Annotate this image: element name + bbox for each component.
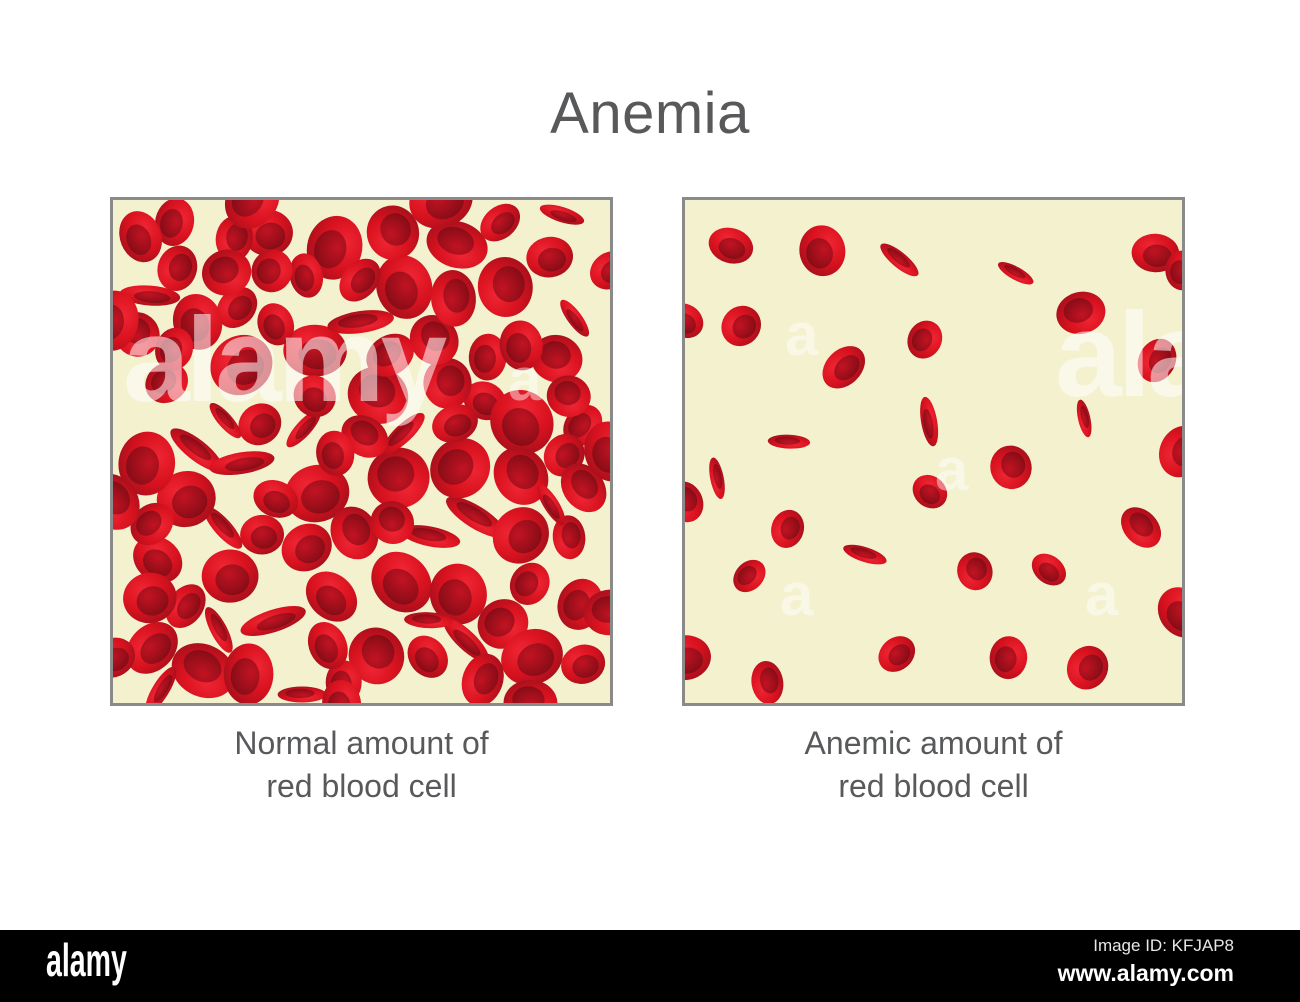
- red-blood-cell: [706, 456, 727, 500]
- red-blood-cell: [286, 367, 344, 425]
- red-blood-cell: [239, 514, 285, 556]
- red-blood-cell: [557, 639, 610, 689]
- anemic-blood-cells-illustration: [685, 200, 1182, 703]
- red-blood-cell: [201, 549, 259, 603]
- red-blood-cell: [1052, 287, 1110, 340]
- caption-anemic: Anemic amount of red blood cell: [682, 722, 1185, 808]
- red-blood-cell: [685, 296, 710, 345]
- red-blood-cell: [296, 561, 367, 632]
- red-blood-cell: [917, 395, 941, 447]
- red-blood-cell: [503, 679, 558, 703]
- red-blood-cell: [273, 514, 341, 580]
- alamy-footer-bar: alamy Image ID: KFJAP8 www.alamy.com: [0, 930, 1300, 1002]
- red-blood-cell: [230, 395, 289, 453]
- red-blood-cell: [685, 475, 710, 529]
- caption-anemic-line2: red blood cell: [682, 765, 1185, 808]
- red-blood-cell: [583, 244, 610, 298]
- red-blood-cell: [399, 627, 456, 686]
- caption-normal-line1: Normal amount of: [110, 722, 613, 765]
- red-blood-cell: [795, 222, 849, 280]
- red-blood-cell: [1074, 398, 1094, 438]
- red-blood-cell: [1113, 499, 1169, 556]
- red-blood-cell: [278, 686, 327, 702]
- caption-anemic-line1: Anemic amount of: [682, 722, 1185, 765]
- red-blood-cell: [704, 222, 757, 269]
- red-blood-cell: [952, 547, 998, 595]
- page-title: Anemia: [0, 85, 1300, 143]
- normal-blood-cells-illustration: [113, 200, 610, 703]
- red-blood-cell: [556, 296, 594, 341]
- red-blood-cell: [871, 629, 922, 680]
- red-blood-cell: [841, 541, 889, 569]
- panel-anemic-blood: alamy a a a a: [682, 197, 1185, 706]
- red-blood-cell: [208, 447, 277, 479]
- red-blood-cell: [1130, 332, 1182, 390]
- red-blood-cell: [1026, 547, 1073, 592]
- alamy-url: www.alamy.com: [1058, 960, 1234, 987]
- red-blood-cell: [766, 505, 809, 552]
- red-blood-cell: [1151, 418, 1182, 485]
- alamy-logo: alamy: [46, 934, 127, 987]
- illustration-canvas: Anemia alamy: [0, 0, 1300, 1002]
- red-blood-cell: [995, 258, 1036, 289]
- red-blood-cell: [767, 434, 810, 450]
- caption-normal-line2: red blood cell: [110, 765, 613, 808]
- red-blood-cell: [988, 635, 1028, 680]
- red-blood-cell: [901, 314, 949, 364]
- red-blood-cell: [538, 200, 587, 228]
- red-blood-cell: [523, 233, 575, 280]
- caption-normal: Normal amount of red blood cell: [110, 722, 613, 808]
- red-blood-cell: [876, 239, 923, 282]
- red-blood-cell: [906, 468, 954, 515]
- red-blood-cell: [748, 659, 786, 703]
- red-blood-cell: [1059, 638, 1116, 697]
- image-id-label: Image ID: KFJAP8: [1093, 936, 1234, 956]
- red-blood-cell: [1148, 577, 1182, 647]
- red-blood-cell: [474, 254, 536, 321]
- red-blood-cell: [814, 338, 873, 397]
- red-blood-cell: [685, 632, 714, 683]
- red-blood-cell: [985, 440, 1038, 495]
- red-blood-cell: [713, 298, 769, 355]
- red-blood-cell: [727, 553, 772, 598]
- red-blood-cell: [237, 600, 309, 642]
- panel-normal-blood: alamy a a a a: [110, 197, 613, 706]
